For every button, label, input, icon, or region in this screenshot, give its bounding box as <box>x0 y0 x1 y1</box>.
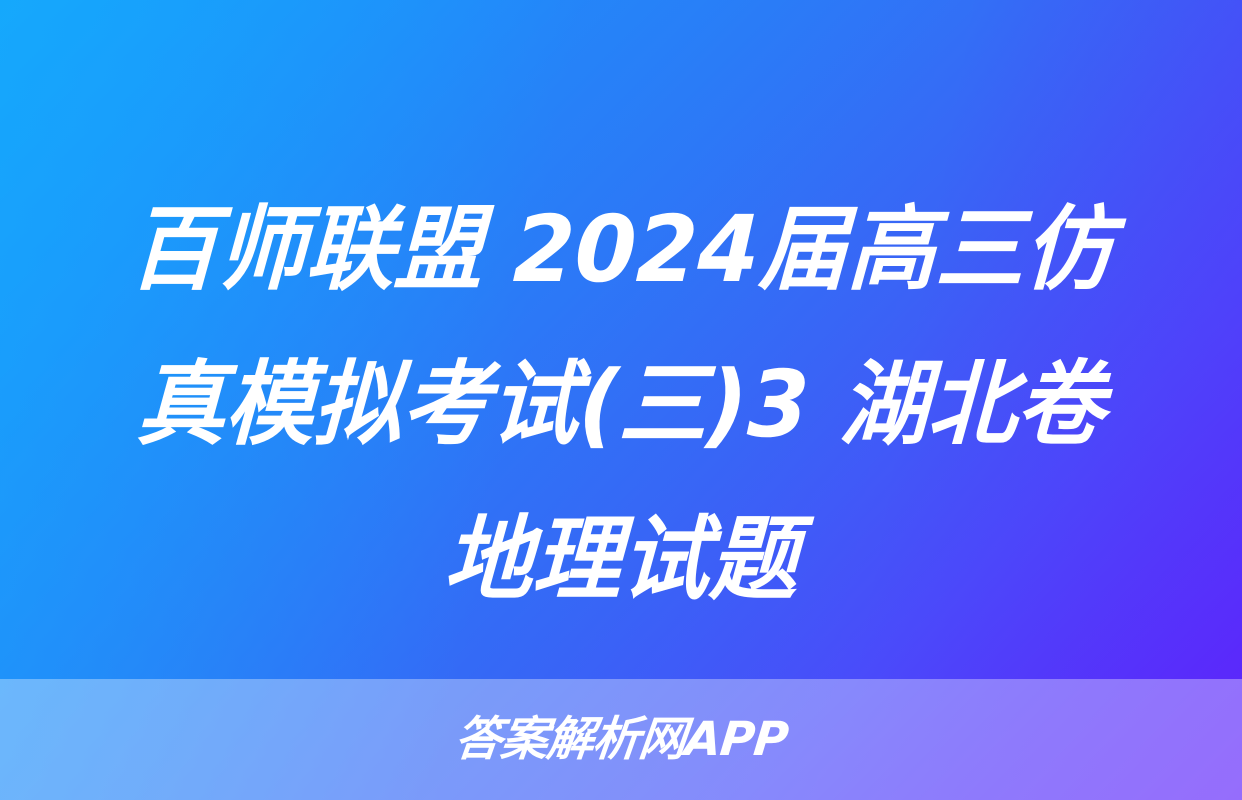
poster-canvas: 百师联盟 2024届高三仿 真模拟考试(三)3 湖北卷 地理试题 答案解析网AP… <box>0 0 1242 800</box>
app-brand-label: 答案解析网APP <box>452 716 789 763</box>
footer-branding-band: 答案解析网APP <box>0 679 1242 800</box>
title-line-3: 地理试题 <box>75 482 1167 637</box>
title-line-1: 百师联盟 2024届高三仿 <box>75 172 1167 327</box>
page-title: 百师联盟 2024届高三仿 真模拟考试(三)3 湖北卷 地理试题 <box>0 172 1242 637</box>
title-line-2: 真模拟考试(三)3 湖北卷 <box>75 327 1167 482</box>
